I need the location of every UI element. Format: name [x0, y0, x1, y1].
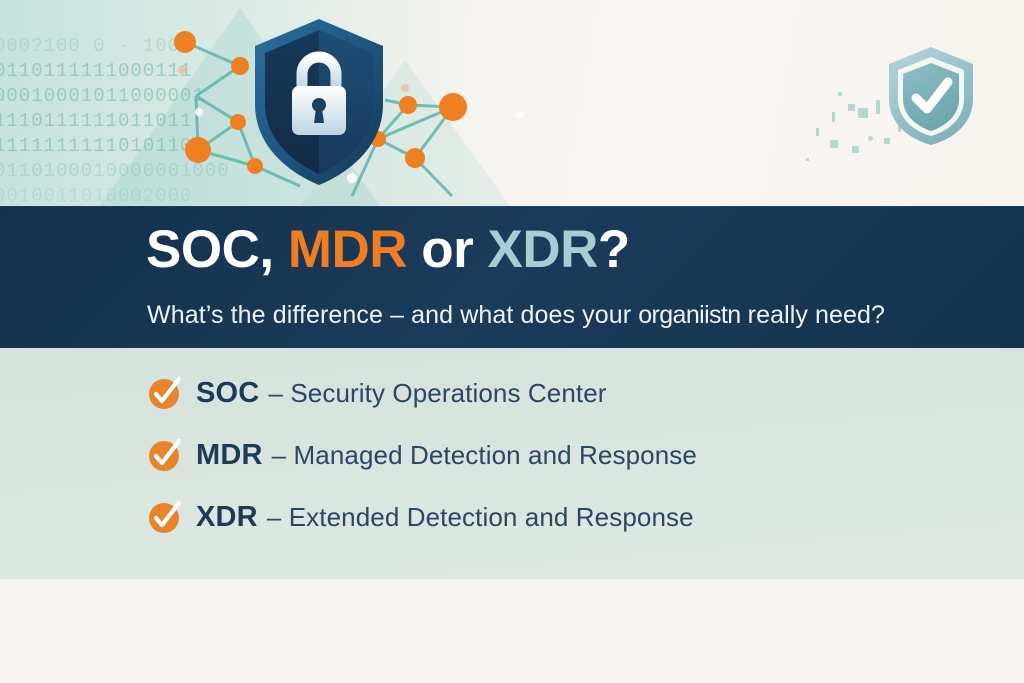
page-title: SOC, MDR or XDR?: [146, 223, 630, 276]
page-subtitle: What’s the difference – and what does yo…: [147, 301, 885, 330]
network-nodes-icon: [0, 0, 1024, 206]
list-item-description: – Managed Detection and Response: [272, 440, 697, 471]
check-circle-icon: [148, 376, 182, 410]
definitions-band: SOC – Security Operations Center MDR – M…: [0, 348, 1024, 579]
check-circle-icon: [148, 500, 182, 534]
hero-graphic-band: 000?100 0 - 1000 0110111111000111 000100…: [0, 0, 1024, 206]
shield-padlock-icon: [249, 16, 389, 188]
list-item-term: MDR: [196, 439, 263, 472]
title-xdr: XDR: [487, 220, 597, 279]
title-banner: SOC, MDR or XDR? What’s the difference –…: [0, 206, 1024, 348]
list-item: XDR – Extended Detection and Response: [148, 500, 694, 534]
subtitle-before: What’s the difference – and what does yo…: [147, 301, 638, 329]
title-mdr: MDR: [288, 220, 407, 279]
infographic-slide: 000?100 0 - 1000 0110111111000111 000100…: [0, 0, 1024, 683]
list-item-description: – Security Operations Center: [268, 378, 606, 409]
title-or: or: [421, 220, 473, 279]
subtitle-garbled-word: organiistn: [638, 301, 740, 329]
footer-band: [0, 579, 1024, 683]
title-question-mark: ?: [598, 220, 630, 279]
list-item-description: – Extended Detection and Response: [267, 502, 694, 533]
list-item-term: XDR: [196, 501, 258, 534]
list-item: MDR – Managed Detection and Response: [148, 438, 697, 472]
check-circle-icon: [148, 438, 182, 472]
shield-check-icon: [884, 44, 978, 148]
list-item: SOC – Security Operations Center: [148, 376, 607, 410]
title-soc: SOC,: [146, 220, 274, 279]
subtitle-after: really need?: [741, 301, 885, 329]
list-item-term: SOC: [196, 377, 259, 410]
